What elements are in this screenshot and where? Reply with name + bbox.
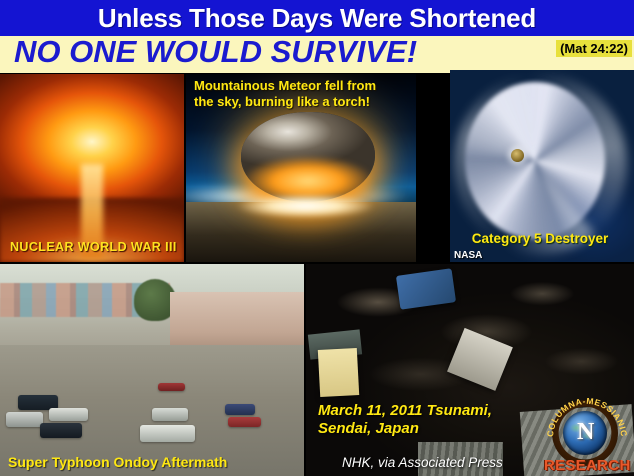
caption-meteor-line1: Mountainous Meteor fell from	[194, 78, 410, 94]
caption-meteor: Mountainous Meteor fell from the sky, bu…	[194, 78, 410, 110]
submerged-vehicle	[40, 423, 83, 438]
logo-monogram: N	[577, 419, 593, 445]
tsunami-damaged-house	[318, 348, 360, 397]
hurricane-spiral-bands	[454, 74, 627, 254]
submerged-vehicle	[152, 408, 188, 421]
image-panel-hurricane: Category 5 Destroyer NASA	[450, 70, 634, 262]
submerged-vehicle	[225, 404, 255, 415]
header-title-line1: Unless Those Days Were Shortened	[98, 3, 536, 34]
submerged-vehicle	[140, 425, 195, 442]
submerged-vehicle	[49, 408, 89, 421]
credit-nhk-ap: NHK, via Associated Press	[342, 455, 503, 470]
hurricane-eye	[511, 149, 524, 162]
image-panel-meteor: Mountainous Meteor fell from the sky, bu…	[186, 74, 416, 262]
header-band-primary: Unless Those Days Were Shortened	[0, 0, 634, 36]
image-panel-tsunami: March 11, 2011 Tsunami, Sendai, Japan NH…	[306, 264, 634, 476]
caption-meteor-line2: the sky, burning like a torch!	[194, 94, 410, 110]
logo-wordmark: RESEARCH	[544, 457, 630, 474]
image-panel-typhoon-flood: Super Typhoon Ondoy Aftermath	[0, 264, 304, 476]
credit-nasa: NASA	[454, 250, 482, 261]
submerged-vehicle	[228, 417, 261, 428]
caption-nuclear: NUCLEAR WORLD WAR III	[10, 240, 177, 254]
caption-tsunami: March 11, 2011 Tsunami, Sendai, Japan	[318, 402, 492, 438]
submerged-vehicle	[158, 383, 185, 391]
meteor-impact-flash	[227, 191, 383, 221]
image-panel-nuclear: NUCLEAR WORLD WAR III	[0, 74, 184, 262]
caption-typhoon: Super Typhoon Ondoy Aftermath	[8, 454, 227, 470]
submerged-vehicle	[6, 412, 42, 427]
caption-hurricane: Category 5 Destroyer	[450, 231, 630, 246]
slide-root: Unless Those Days Were Shortened NO ONE …	[0, 0, 634, 476]
caption-tsunami-line2: Sendai, Japan	[318, 420, 492, 438]
columna-messianic-research-logo: COLUMNA-MESSIANIC N RESEARCH	[544, 400, 630, 474]
header-band-secondary: NO ONE WOULD SURVIVE! (Mat 24:22)	[0, 36, 634, 73]
scripture-reference-badge: (Mat 24:22)	[556, 40, 632, 57]
header-title-line2: NO ONE WOULD SURVIVE!	[14, 36, 417, 70]
caption-tsunami-line1: March 11, 2011 Tsunami,	[318, 402, 492, 420]
